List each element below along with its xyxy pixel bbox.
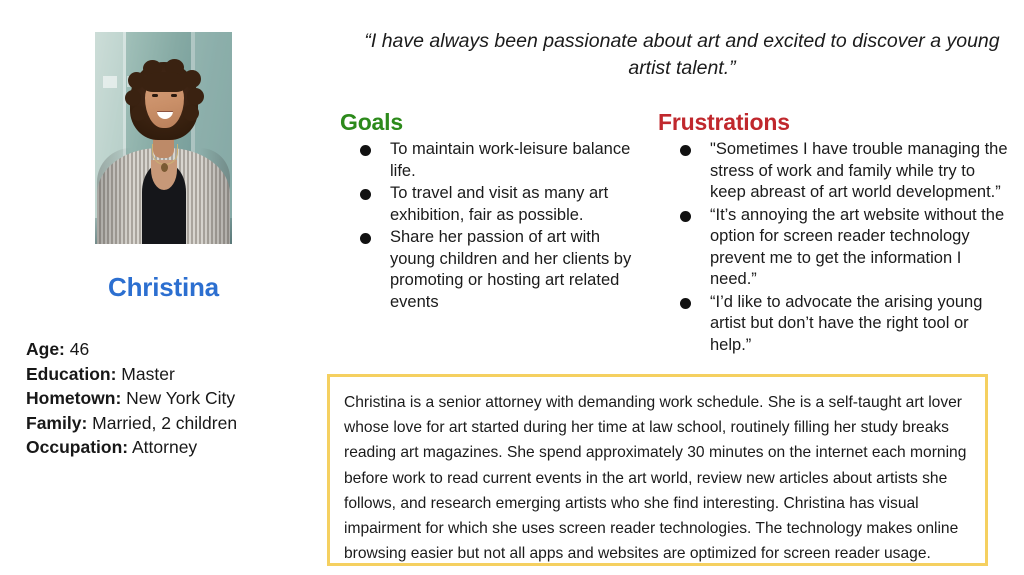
frustrations-list: "Sometimes I have trouble managing the s… — [658, 139, 1008, 356]
bio-box: Christina is a senior attorney with dema… — [327, 374, 988, 566]
goals-list-item: Share her passion of art with young chil… — [340, 227, 640, 313]
photo-hair-curl — [183, 105, 199, 121]
photo-eye-left — [152, 94, 158, 97]
fact-label: Age: — [26, 339, 65, 359]
bullet-icon — [360, 233, 371, 244]
fact-value: 46 — [70, 339, 89, 359]
fact-label: Education: — [26, 364, 116, 384]
bullet-icon — [680, 145, 691, 156]
bullet-icon — [680, 298, 691, 309]
goals-list-item-text: Share her passion of art with young chil… — [390, 228, 631, 311]
goals-list-item: To travel and visit as many art exhibiti… — [340, 183, 640, 226]
fact-label: Family: — [26, 413, 87, 433]
goals-list-item-text: To maintain work-leisure balance life. — [390, 140, 630, 180]
frustrations-list-item-text: “I’d like to advocate the arising young … — [710, 293, 982, 354]
photo-hair-curl — [125, 90, 141, 106]
bullet-icon — [360, 145, 371, 156]
bullet-icon — [680, 211, 691, 222]
frustrations-list-item-text: "Sometimes I have trouble managing the s… — [710, 140, 1008, 201]
fact-value: Attorney — [132, 437, 197, 457]
photo-blazer-shadow — [97, 148, 131, 244]
frustrations-list-item: “It’s annoying the art website without t… — [658, 205, 1008, 291]
persona-facts-list: Age: 46 Education: Master Hometown: New … — [26, 337, 316, 460]
persona-name: Christina — [0, 272, 327, 303]
fact-value: Married, 2 children — [92, 413, 237, 433]
fact-row-family: Family: Married, 2 children — [26, 411, 316, 436]
goals-heading: Goals — [340, 108, 640, 136]
bullet-icon — [360, 189, 371, 200]
fact-label: Occupation: — [26, 437, 128, 457]
fact-value: New York City — [126, 388, 235, 408]
bio-text: Christina is a senior attorney with dema… — [344, 390, 976, 566]
frustrations-list-item: “I’d like to advocate the arising young … — [658, 292, 1008, 357]
fact-row-occupation: Occupation: Attorney — [26, 435, 316, 460]
goals-list-item-text: To travel and visit as many art exhibiti… — [390, 184, 608, 224]
photo-blazer-shadow — [200, 148, 230, 244]
photo-pendant — [161, 163, 168, 172]
photo-background-light — [103, 76, 117, 88]
persona-quote: “I have always been passionate about art… — [352, 28, 1012, 82]
photo-hair-curl — [131, 106, 146, 121]
fact-row-hometown: Hometown: New York City — [26, 386, 316, 411]
frustrations-list-item: "Sometimes I have trouble managing the s… — [658, 139, 1008, 204]
persona-photo — [95, 32, 232, 244]
fact-row-education: Education: Master — [26, 362, 316, 387]
frustrations-list-item-text: “It’s annoying the art website without t… — [710, 206, 1004, 289]
goals-list: To maintain work-leisure balance life. T… — [340, 139, 640, 313]
photo-hair-fringe — [142, 72, 187, 92]
persona-left-column: Christina Age: 46 Education: Master Home… — [0, 0, 327, 575]
photo-black-top — [142, 162, 186, 244]
fact-row-age: Age: 46 — [26, 337, 316, 362]
photo-eye-right — [171, 94, 177, 97]
fact-value: Master — [121, 364, 174, 384]
goals-list-item: To maintain work-leisure balance life. — [340, 139, 640, 182]
fact-label: Hometown: — [26, 388, 121, 408]
frustrations-section: Frustrations "Sometimes I have trouble m… — [658, 108, 1008, 357]
frustrations-heading: Frustrations — [658, 108, 1008, 136]
goals-section: Goals To maintain work-leisure balance l… — [340, 108, 640, 314]
photo-hair-curl — [187, 88, 204, 105]
